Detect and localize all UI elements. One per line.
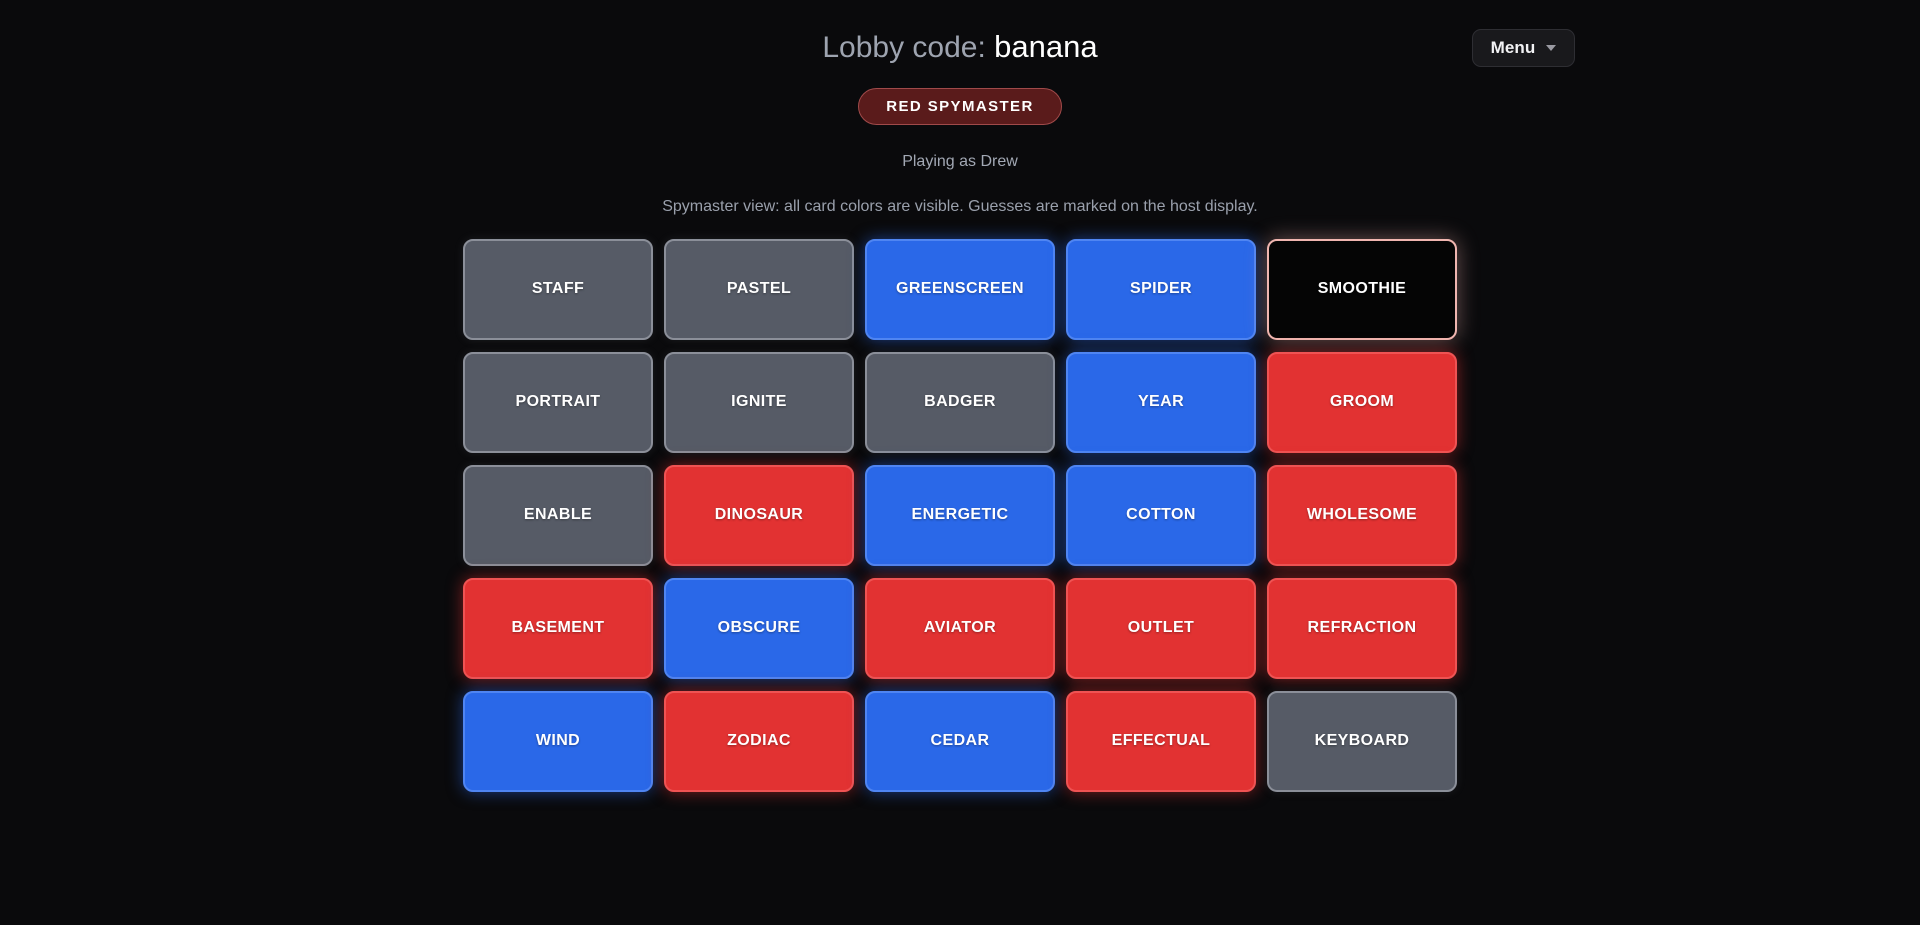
card-label: OUTLET	[1128, 619, 1194, 637]
card[interactable]: GROOM	[1267, 352, 1457, 453]
card-label: WIND	[536, 732, 580, 750]
card-label: REFRACTION	[1308, 619, 1417, 637]
menu-button-label: Menu	[1491, 38, 1536, 58]
spymaster-note: Spymaster view: all card colors are visi…	[662, 198, 1258, 216]
card[interactable]: SMOOTHIE	[1267, 239, 1457, 340]
card[interactable]: GREENSCREEN	[865, 239, 1055, 340]
card[interactable]: PORTRAIT	[463, 352, 653, 453]
card[interactable]: BASEMENT	[463, 578, 653, 679]
card[interactable]: ENERGETIC	[865, 465, 1055, 566]
card-label: IGNITE	[731, 393, 787, 411]
card[interactable]: ZODIAC	[664, 691, 854, 792]
card[interactable]: DINOSAUR	[664, 465, 854, 566]
card-label: STAFF	[532, 280, 584, 298]
playing-as-text: Playing as Drew	[902, 153, 1018, 171]
card[interactable]: ENABLE	[463, 465, 653, 566]
page-header: Lobby code: banana RED SPYMASTER Playing…	[0, 0, 1920, 216]
card[interactable]: CEDAR	[865, 691, 1055, 792]
card[interactable]: OUTLET	[1066, 578, 1256, 679]
card-label: ENERGETIC	[912, 506, 1009, 524]
card[interactable]: PASTEL	[664, 239, 854, 340]
page-title: Lobby code: banana	[822, 28, 1097, 66]
lobby-code-label: Lobby code:	[822, 31, 985, 64]
card[interactable]: EFFECTUAL	[1066, 691, 1256, 792]
lobby-code-value: banana	[994, 29, 1097, 64]
menu-button[interactable]: Menu	[1472, 29, 1575, 67]
card-label: WHOLESOME	[1307, 506, 1417, 524]
role-badge: RED SPYMASTER	[858, 88, 1061, 125]
card-label: BADGER	[924, 393, 996, 411]
card-label: PASTEL	[727, 280, 791, 298]
card[interactable]: YEAR	[1066, 352, 1256, 453]
card-label: DINOSAUR	[715, 506, 804, 524]
card[interactable]: COTTON	[1066, 465, 1256, 566]
card-label: CEDAR	[931, 732, 990, 750]
card-label: KEYBOARD	[1315, 732, 1410, 750]
card-label: EFFECTUAL	[1112, 732, 1211, 750]
card[interactable]: SPIDER	[1066, 239, 1256, 340]
card-label: PORTRAIT	[516, 393, 601, 411]
card-label: SMOOTHIE	[1318, 280, 1407, 298]
chevron-down-icon	[1546, 45, 1556, 51]
card-label: ZODIAC	[727, 732, 791, 750]
card-label: YEAR	[1138, 393, 1184, 411]
card-label: GROOM	[1330, 393, 1394, 411]
card[interactable]: OBSCURE	[664, 578, 854, 679]
card-label: AVIATOR	[924, 619, 996, 637]
card-label: ENABLE	[524, 506, 592, 524]
card-label: COTTON	[1126, 506, 1196, 524]
card[interactable]: WHOLESOME	[1267, 465, 1457, 566]
card[interactable]: WIND	[463, 691, 653, 792]
card[interactable]: AVIATOR	[865, 578, 1055, 679]
card[interactable]: KEYBOARD	[1267, 691, 1457, 792]
card-board: STAFFPASTELGREENSCREENSPIDERSMOOTHIEPORT…	[462, 239, 1459, 792]
card-label: GREENSCREEN	[896, 280, 1024, 298]
card[interactable]: BADGER	[865, 352, 1055, 453]
card[interactable]: REFRACTION	[1267, 578, 1457, 679]
card-label: BASEMENT	[512, 619, 605, 637]
card-label: OBSCURE	[718, 619, 801, 637]
card[interactable]: IGNITE	[664, 352, 854, 453]
card-label: SPIDER	[1130, 280, 1192, 298]
card[interactable]: STAFF	[463, 239, 653, 340]
